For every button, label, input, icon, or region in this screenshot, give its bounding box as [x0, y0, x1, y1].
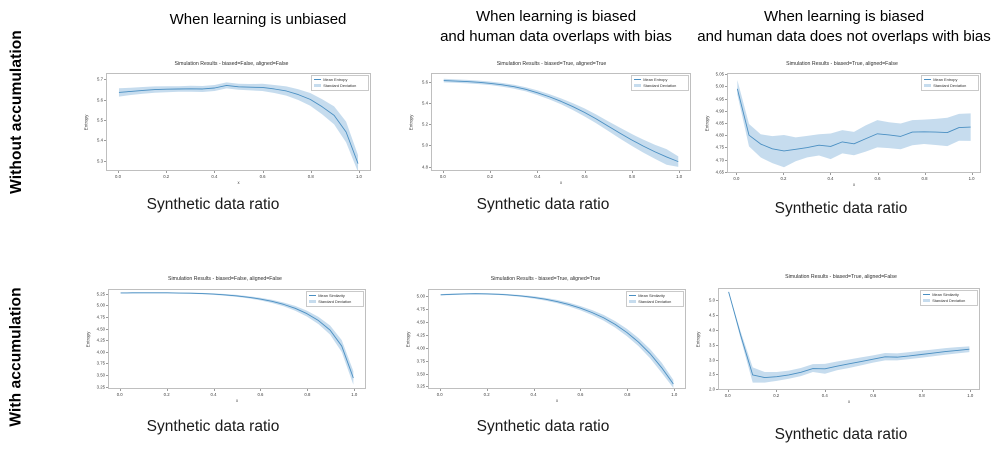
x-axis-tick-mark	[120, 389, 121, 391]
x-axis-tick-label: 0.0	[721, 393, 735, 398]
x-axis-caption: Synthetic data ratio	[716, 426, 966, 444]
x-axis-tick-mark	[736, 173, 737, 175]
y-axis-label: Entropy	[74, 116, 98, 128]
y-axis-tick-label: 3.25	[412, 384, 425, 389]
x-axis-tick-mark	[585, 171, 586, 173]
y-axis-tick-mark	[106, 317, 108, 318]
legend-item-std: Standard Deviation	[923, 298, 974, 304]
y-axis-tick-mark	[106, 375, 108, 376]
x-axis-tick-mark	[873, 390, 874, 392]
x-axis-tick-mark	[580, 389, 581, 391]
x-axis-tick-label: 1.0	[352, 174, 366, 179]
y-axis-tick-label: 5.0	[702, 297, 715, 302]
x-axis-tick-mark	[878, 173, 879, 175]
legend-item-std: Standard Deviation	[314, 83, 365, 89]
y-axis-tick-label: 3.25	[92, 384, 105, 389]
chart-title: Simulation Results - biased=False, align…	[75, 276, 375, 282]
y-axis-tick-mark	[429, 82, 431, 83]
x-axis-tick-label: 0.6	[253, 392, 267, 397]
legend-band-swatch-icon	[314, 84, 321, 87]
x-axis-tick-label: 0.8	[300, 392, 314, 397]
x-axis-tick-mark	[311, 171, 312, 173]
x-axis-tick-label: 0.8	[915, 393, 929, 398]
chart-panel-unbiased-without-accumulation: Simulation Results - biased=False, align…	[84, 61, 379, 191]
x-axis-tick-mark	[307, 389, 308, 391]
y-axis-tick-label: 2.0	[702, 387, 715, 392]
x-axis-tick-mark	[214, 389, 215, 391]
x-axis-tick-mark	[440, 389, 441, 391]
y-axis-tick-mark	[716, 300, 718, 301]
y-axis-tick-mark	[725, 135, 727, 136]
x-axis-tick-label: 0.4	[207, 174, 221, 179]
y-axis-tick-mark	[716, 374, 718, 375]
y-axis-tick-mark	[106, 387, 108, 388]
y-axis-tick-label: 4.80	[711, 133, 724, 138]
x-axis-tick-mark	[214, 171, 215, 173]
y-axis-tick-label: 5.3	[90, 158, 103, 163]
y-axis-tick-label: 5.00	[412, 294, 425, 299]
column-header-biased-no-overlap: When learning is biasedand human data do…	[694, 7, 994, 47]
y-axis-tick-mark	[426, 335, 428, 336]
y-axis-tick-mark	[426, 374, 428, 375]
x-axis-tick-label: 0.6	[573, 392, 587, 397]
y-axis-tick-mark	[426, 296, 428, 297]
x-axis-caption: Synthetic data ratio	[418, 418, 668, 436]
y-axis-tick-mark	[104, 120, 106, 121]
mean-line	[119, 85, 358, 163]
chart-title: Simulation Results - biased=True, aligne…	[398, 276, 693, 282]
x-axis-tick-mark	[490, 171, 491, 173]
x-axis-tick-label: 0.6	[256, 174, 270, 179]
chart-panel-biased-no-overlap-with-accumulation: Simulation Results - biased=True, aligne…	[690, 274, 992, 414]
column-header-biased-overlap: When learning is biasedand human data ov…	[412, 7, 700, 47]
chart-title: Simulation Results - biased=True, aligne…	[692, 61, 992, 67]
y-axis-tick-label: 3.0	[702, 357, 715, 362]
y-axis-tick-label: 4.70	[711, 157, 724, 162]
y-axis-tick-mark	[106, 329, 108, 330]
y-axis-tick-mark	[725, 123, 727, 124]
x-axis-tick-label: 0.0	[111, 174, 125, 179]
y-axis-tick-mark	[716, 330, 718, 331]
x-axis-tick-mark	[830, 173, 831, 175]
x-axis-tick-label: 0.8	[918, 176, 932, 181]
y-axis-tick-mark	[104, 140, 106, 141]
x-axis-tick-label: 0.6	[578, 174, 592, 179]
x-axis-tick-mark	[627, 389, 628, 391]
legend-band-swatch-icon	[629, 300, 636, 303]
y-axis-tick-mark	[106, 294, 108, 295]
std-deviation-band	[441, 293, 674, 388]
x-axis-tick-label: 0.4	[207, 392, 221, 397]
x-axis-tick-mark	[783, 173, 784, 175]
x-axis-tick-label: 0.6	[866, 393, 880, 398]
x-axis-caption: Synthetic data ratio	[716, 200, 966, 218]
x-axis-tick-mark	[925, 173, 926, 175]
y-axis-tick-mark	[716, 360, 718, 361]
y-axis-tick-label: 4.90	[711, 108, 724, 113]
x-axis-tick-label: 0.2	[776, 176, 790, 181]
x-axis-tick-label: 0.0	[433, 392, 447, 397]
y-axis-tick-label: 3.50	[412, 371, 425, 376]
legend-item-std: Standard Deviation	[309, 299, 360, 305]
x-axis-label: x	[428, 398, 686, 403]
legend-label: Standard Deviation	[318, 299, 351, 305]
y-axis-tick-label: 3.50	[92, 373, 105, 378]
legend-line-swatch-icon	[309, 295, 316, 296]
x-axis-caption: Synthetic data ratio	[88, 418, 338, 436]
legend-item-std: Standard Deviation	[924, 83, 975, 89]
y-axis-tick-mark	[429, 167, 431, 168]
y-axis-tick-mark	[429, 103, 431, 104]
y-axis-tick-mark	[725, 160, 727, 161]
chart-panel-unbiased-with-accumulation: Simulation Results - biased=False, align…	[75, 276, 375, 411]
y-axis-tick-mark	[104, 161, 106, 162]
y-axis-tick-label: 5.00	[92, 303, 105, 308]
x-axis-tick-mark	[260, 389, 261, 391]
x-axis-caption: Synthetic data ratio	[88, 196, 338, 214]
x-axis-tick-label: 0.2	[480, 392, 494, 397]
chart-title: Simulation Results - biased=True, aligne…	[404, 61, 699, 67]
x-axis-tick-mark	[166, 171, 167, 173]
y-axis-tick-label: 4.8	[415, 164, 428, 169]
y-axis-tick-mark	[725, 99, 727, 100]
y-axis-tick-mark	[426, 322, 428, 323]
y-axis-tick-label: 5.4	[90, 138, 103, 143]
x-axis-tick-label: 0.0	[436, 174, 450, 179]
x-axis-label: x	[718, 399, 980, 404]
x-axis-tick-mark	[825, 390, 826, 392]
x-axis-tick-mark	[118, 171, 119, 173]
chart-legend: Mean SimilarityStandard Deviation	[306, 291, 364, 307]
x-axis-tick-label: 1.0	[347, 392, 361, 397]
legend-line-swatch-icon	[634, 79, 641, 80]
x-axis-tick-label: 1.0	[667, 392, 681, 397]
chart-title: Simulation Results - biased=False, align…	[84, 61, 379, 67]
legend-band-swatch-icon	[924, 84, 931, 87]
y-axis-tick-label: 3.75	[412, 358, 425, 363]
legend-item-std: Standard Deviation	[629, 299, 680, 305]
row-label-text: Without accumulation	[8, 30, 26, 194]
y-axis-tick-mark	[716, 345, 718, 346]
y-axis-tick-label: 5.7	[90, 77, 103, 82]
y-axis-tick-mark	[426, 386, 428, 387]
std-deviation-band	[119, 82, 358, 170]
y-axis-tick-mark	[106, 305, 108, 306]
y-axis-tick-label: 4.00	[412, 345, 425, 350]
y-axis-tick-label: 4.95	[711, 96, 724, 101]
row-label-text: With accumulation	[8, 287, 26, 426]
x-axis-tick-mark	[776, 390, 777, 392]
y-axis-tick-label: 4.50	[412, 319, 425, 324]
x-axis-tick-mark	[970, 390, 971, 392]
y-axis-tick-label: 4.75	[711, 145, 724, 150]
x-axis-tick-label: 0.2	[769, 393, 783, 398]
row-label-without-accumulation: Without accumulation	[0, 12, 34, 212]
chart-panel-biased-no-overlap-without-accumulation: Simulation Results - biased=True, aligne…	[692, 61, 992, 195]
legend-band-swatch-icon	[923, 299, 930, 302]
legend-label: Standard Deviation	[643, 83, 676, 89]
y-axis-tick-label: 4.50	[92, 326, 105, 331]
y-axis-tick-mark	[104, 79, 106, 80]
chart-legend: Mean SimilarityStandard Deviation	[626, 291, 684, 307]
x-axis-tick-mark	[728, 390, 729, 392]
x-axis-tick-mark	[534, 389, 535, 391]
y-axis-tick-label: 5.0	[415, 143, 428, 148]
y-axis-tick-label: 4.65	[711, 169, 724, 174]
y-axis-tick-label: 5.05	[711, 72, 724, 77]
chart-legend: Mean EntropyStandard Deviation	[631, 75, 689, 91]
x-axis-label: x	[431, 180, 691, 185]
x-axis-tick-mark	[487, 389, 488, 391]
y-axis-tick-mark	[725, 86, 727, 87]
y-axis-tick-label: 4.75	[412, 307, 425, 312]
x-axis-tick-label: 0.2	[159, 174, 173, 179]
x-axis-tick-label: 1.0	[965, 176, 979, 181]
y-axis-label: Entropy	[399, 116, 423, 128]
y-axis-tick-mark	[426, 309, 428, 310]
x-axis-tick-label: 0.2	[160, 392, 174, 397]
y-axis-tick-label: 5.25	[92, 291, 105, 296]
chart-legend: Mean SimilarityStandard Deviation	[920, 290, 978, 306]
std-deviation-band	[737, 80, 970, 167]
x-axis-tick-mark	[679, 171, 680, 173]
chart-panel-biased-overlap-without-accumulation: Simulation Results - biased=True, aligne…	[404, 61, 699, 191]
y-axis-tick-label: 3.75	[92, 361, 105, 366]
legend-item-std: Standard Deviation	[634, 83, 685, 89]
y-axis-tick-label: 5.6	[415, 79, 428, 84]
y-axis-tick-mark	[106, 363, 108, 364]
y-axis-tick-mark	[106, 340, 108, 341]
x-axis-tick-label: 0.4	[527, 392, 541, 397]
x-axis-tick-label: 0.0	[113, 392, 127, 397]
y-axis-tick-mark	[426, 348, 428, 349]
row-label-with-accumulation: With accumulation	[0, 262, 34, 452]
y-axis-tick-mark	[429, 145, 431, 146]
chart-title: Simulation Results - biased=True, aligne…	[690, 274, 992, 280]
y-axis-tick-mark	[429, 124, 431, 125]
y-axis-tick-mark	[104, 100, 106, 101]
y-axis-tick-mark	[725, 172, 727, 173]
x-axis-tick-label: 0.0	[729, 176, 743, 181]
y-axis-tick-mark	[106, 352, 108, 353]
x-axis-tick-mark	[354, 389, 355, 391]
legend-line-swatch-icon	[923, 294, 930, 295]
y-axis-tick-mark	[426, 361, 428, 362]
column-header-unbiased: When learning is unbiased	[118, 10, 398, 30]
y-axis-tick-mark	[725, 74, 727, 75]
legend-line-swatch-icon	[924, 79, 931, 80]
x-axis-tick-mark	[263, 171, 264, 173]
x-axis-tick-label: 0.4	[530, 174, 544, 179]
x-axis-tick-label: 0.4	[818, 393, 832, 398]
y-axis-label: Entropy	[396, 333, 420, 345]
chart-legend: Mean EntropyStandard Deviation	[311, 75, 369, 91]
x-axis-tick-mark	[922, 390, 923, 392]
legend-band-swatch-icon	[634, 84, 641, 87]
y-axis-tick-label: 2.5	[702, 372, 715, 377]
legend-label: Standard Deviation	[932, 298, 965, 304]
x-axis-label: x	[727, 182, 981, 187]
y-axis-label: Entropy	[695, 117, 719, 129]
x-axis-tick-label: 0.8	[620, 392, 634, 397]
y-axis-tick-label: 4.5	[702, 312, 715, 317]
x-axis-tick-mark	[632, 171, 633, 173]
x-axis-tick-mark	[443, 171, 444, 173]
figure-grid: Without accumulation With accumulation W…	[0, 0, 997, 459]
legend-label: Standard Deviation	[638, 299, 671, 305]
y-axis-tick-label: 5.4	[415, 100, 428, 105]
y-axis-label: Entropy	[76, 333, 100, 345]
x-axis-tick-mark	[167, 389, 168, 391]
y-axis-tick-label: 4.75	[92, 314, 105, 319]
x-axis-tick-mark	[537, 171, 538, 173]
y-axis-tick-mark	[716, 315, 718, 316]
y-axis-tick-mark	[725, 147, 727, 148]
std-deviation-band	[444, 79, 679, 167]
x-axis-tick-mark	[674, 389, 675, 391]
chart-panel-biased-overlap-with-accumulation: Simulation Results - biased=True, aligne…	[398, 276, 693, 411]
y-axis-tick-mark	[725, 111, 727, 112]
x-axis-tick-label: 0.2	[483, 174, 497, 179]
legend-band-swatch-icon	[309, 300, 316, 303]
legend-label: Standard Deviation	[323, 83, 356, 89]
x-axis-tick-label: 0.8	[304, 174, 318, 179]
legend-label: Standard Deviation	[933, 83, 966, 89]
x-axis-label: x	[106, 180, 371, 185]
x-axis-tick-mark	[359, 171, 360, 173]
x-axis-tick-label: 0.6	[871, 176, 885, 181]
y-axis-tick-mark	[716, 389, 718, 390]
x-axis-tick-label: 0.8	[625, 174, 639, 179]
x-axis-label: x	[108, 398, 366, 403]
x-axis-tick-label: 1.0	[672, 174, 686, 179]
x-axis-tick-label: 0.4	[823, 176, 837, 181]
x-axis-tick-mark	[972, 173, 973, 175]
y-axis-tick-label: 4.00	[92, 349, 105, 354]
chart-legend: Mean EntropyStandard Deviation	[921, 75, 979, 91]
x-axis-caption: Synthetic data ratio	[418, 196, 668, 214]
y-axis-tick-label: 5.00	[711, 84, 724, 89]
x-axis-tick-label: 1.0	[963, 393, 977, 398]
legend-line-swatch-icon	[314, 79, 321, 80]
y-axis-label: Entropy	[686, 333, 710, 345]
y-axis-tick-label: 4.0	[702, 327, 715, 332]
y-axis-tick-label: 5.6	[90, 97, 103, 102]
legend-line-swatch-icon	[629, 295, 636, 296]
